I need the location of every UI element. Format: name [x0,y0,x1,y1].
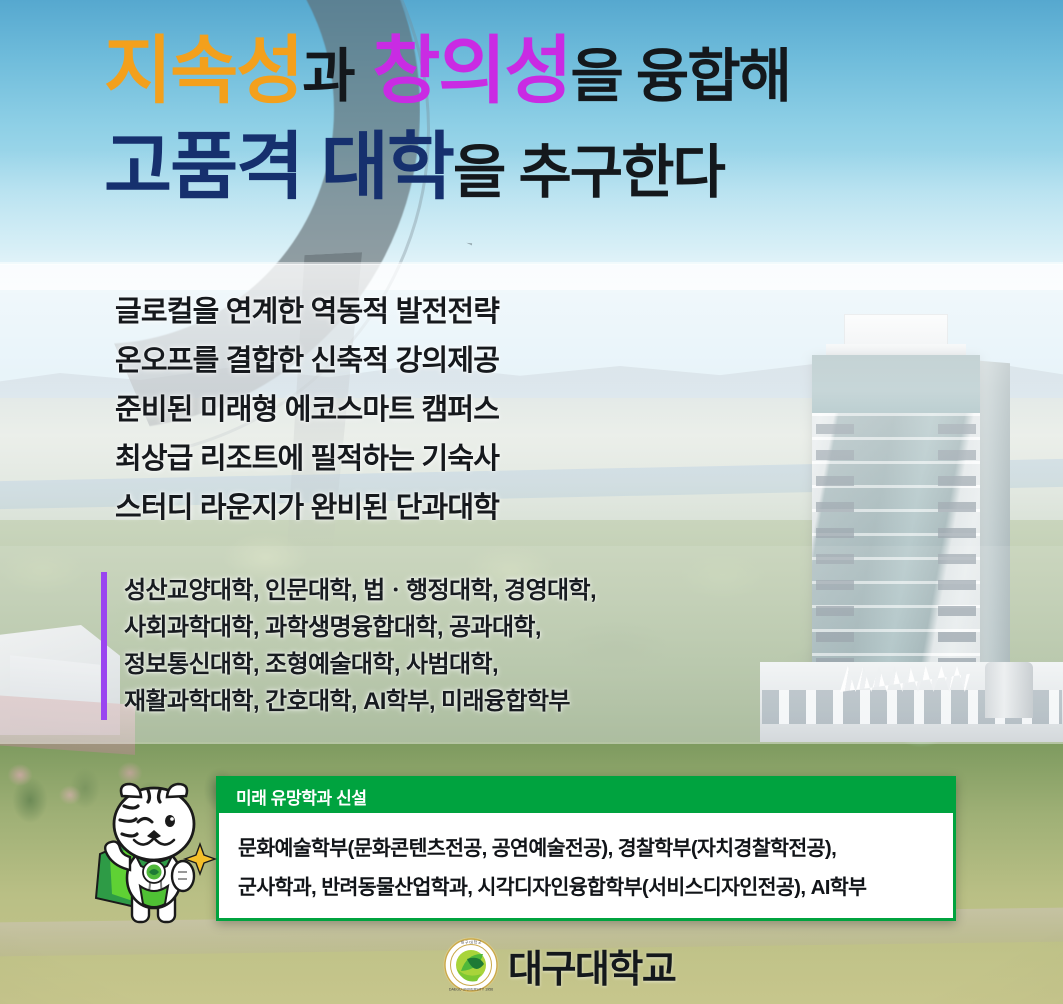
headline-word-sustainability: 지속성 [104,29,302,112]
key-points-list: 글로컬을 연계한 역동적 발전전략 온오프를 결합한 신축적 강의제공 준비된 … [115,288,499,533]
new-departments-card-header: 미래 유망학과 신설 [219,779,953,813]
college-list-line: 사회과학대학, 과학생명융합대학, 공과대학, [124,609,596,646]
headline-line-1: 지속성과 창의성을 융합해 [104,28,1004,120]
headline-line-2: 고품격 대학을 추구한다 [104,124,1004,216]
headline-particle-gwa: 과 [302,44,353,109]
headline-block: 지속성과 창의성을 융합해 고품격 대학을 추구한다 [104,28,1004,216]
new-departments-card-body: 문화예술학부(문화콘텐츠전공, 공연예술전공), 경찰학부(자치경찰학전공), … [219,813,953,907]
college-list-line: 성산교양대학, 인문대학, 법ㆍ행정대학, 경영대학, [124,572,596,609]
college-list: 성산교양대학, 인문대학, 법ㆍ행정대학, 경영대학, 사회과학대학, 과학생명… [101,572,596,720]
svg-text:DAEGU UNIVERSITY 1956: DAEGU UNIVERSITY 1956 [449,987,493,991]
white-tiger-mascot-icon [88,782,220,932]
new-departments-card: 미래 유망학과 신설 문화예술학부(문화콘텐츠전공, 공연예술전공), 경찰학부… [216,776,956,921]
key-point-item: 최상급 리조트에 필적하는 기숙사 [115,435,499,484]
key-point-item: 글로컬을 연계한 역동적 발전전략 [115,288,499,337]
college-list-line: 재활과학대학, 간호대학, AI학부, 미래융합학부 [124,683,596,720]
university-name: 대구대학교 [508,938,675,993]
svg-text:대 구 대 학 교: 대 구 대 학 교 [461,939,482,944]
poster-root: 지속성과 창의성을 융합해 고품격 대학을 추구한다 글로컬을 연계한 역동적 … [0,0,1063,1004]
headline-word-creativity: 창의성 [372,29,570,112]
key-point-item: 준비된 미래형 에코스마트 캠퍼스 [115,386,499,435]
key-point-item: 스터디 라운지가 완비된 단과대학 [115,484,499,533]
college-list-line: 정보통신대학, 조형예술대학, 사범대학, [124,646,596,683]
daegu-university-emblem-icon: 대 구 대 학 교 DAEGU UNIVERSITY 1956 [443,937,499,993]
headline-tail-pursue: 을 추구한다 [453,140,724,205]
key-point-item: 온오프를 결합한 신축적 강의제공 [115,337,499,386]
new-departments-card-title: 미래 유망학과 신설 [236,784,367,809]
university-logo: 대 구 대 학 교 DAEGU UNIVERSITY 1956 대구대학교 [443,936,675,994]
new-department-line: 문화예술학부(문화콘텐츠전공, 공연예술전공), 경찰학부(자치경찰학전공), [238,829,953,868]
headline-tail-fuse: 을 융합해 [570,44,790,109]
new-department-line: 군사학과, 반려동물산업학과, 시각디자인융합학부(서비스디자인전공), AI학… [238,868,953,907]
headline-word-premium-university: 고품격 대학 [104,125,453,208]
